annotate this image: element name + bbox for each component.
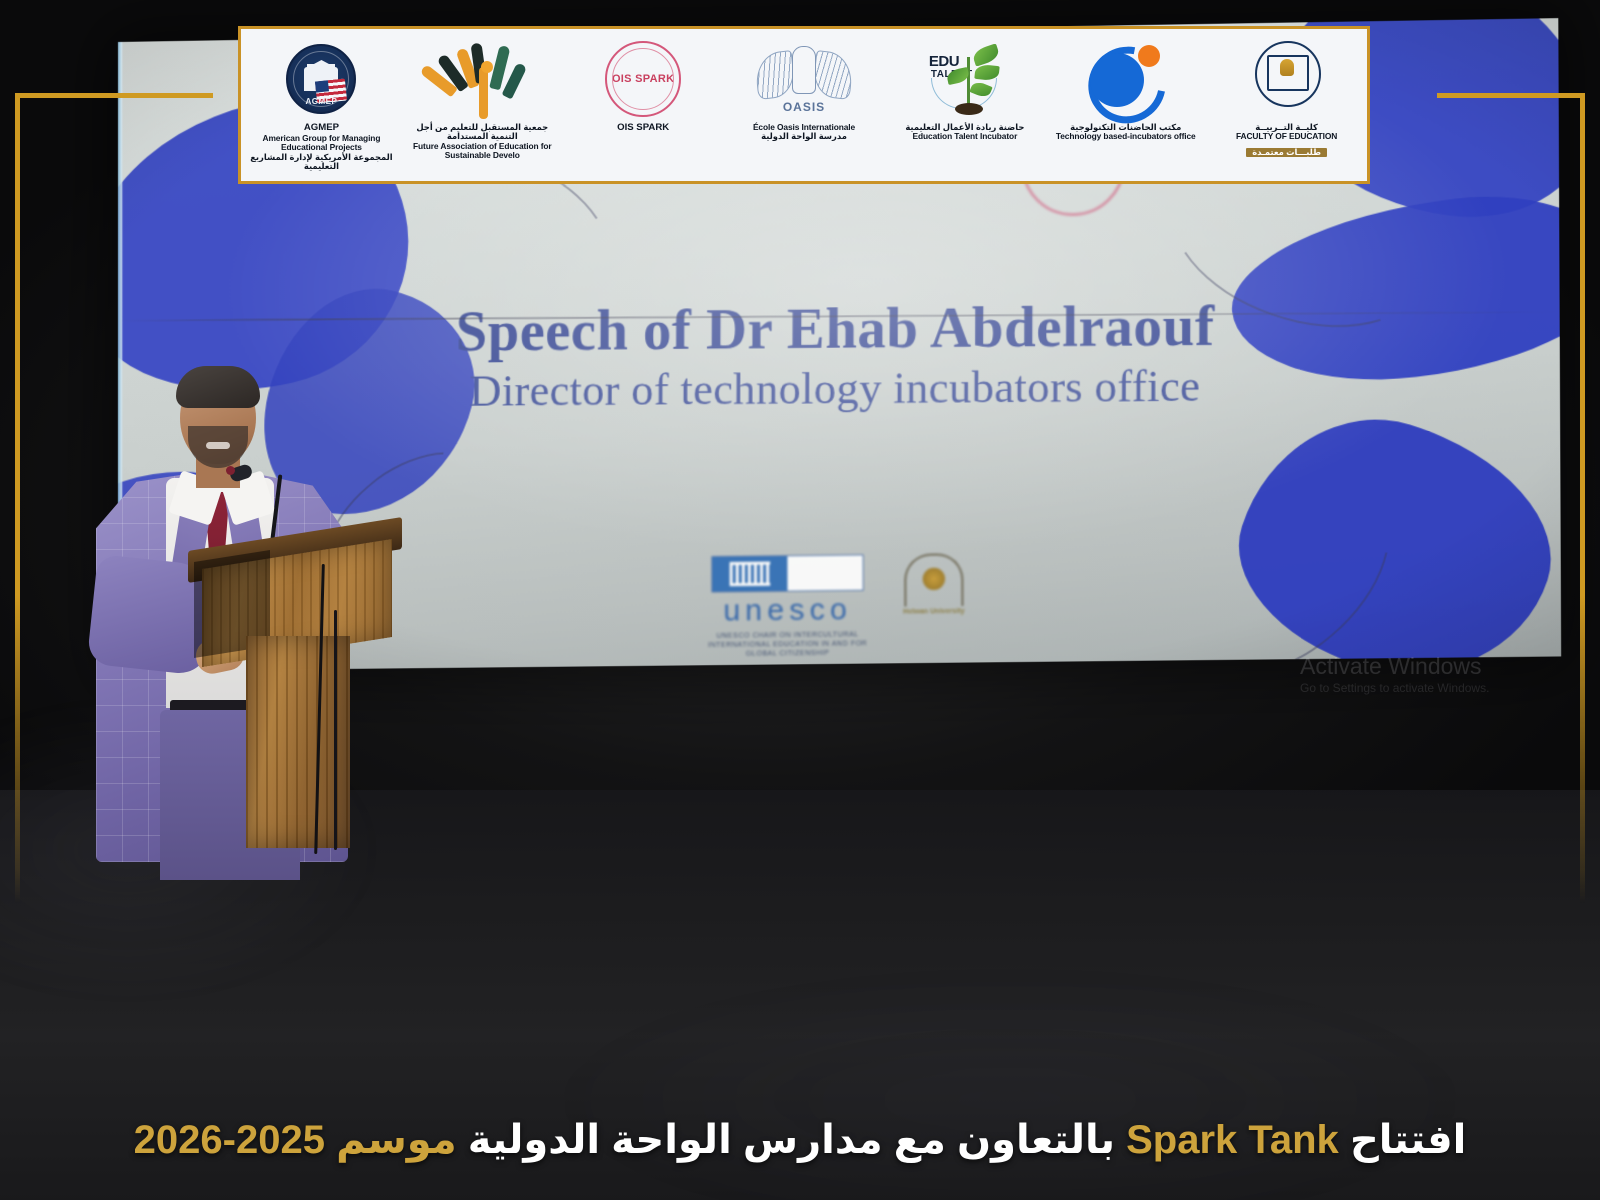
agmep-caption: AGMEP American Group for Managing Educat… [243,123,400,171]
tbi-name-en: Technology based-incubators office [1056,132,1196,141]
logo-item-faculty-of-education: كليــة التــربيــة FACULTY OF EDUCATION … [1206,29,1367,181]
gold-frame-top-left [15,93,213,98]
faculty-of-education-caption: كليــة التــربيــة FACULTY OF EDUCATION … [1236,123,1337,160]
tbi-caption: مكتب الحاضنات التكنولوجية Technology bas… [1056,123,1196,142]
edu-talent-plant-icon: EDU TALENT [925,37,1005,121]
oasis-name-ar: مدرسة الواحة الدولية [753,132,855,141]
caption-word-opening: افتتاح [1350,1118,1466,1162]
oasis-caption: École Oasis Internationale مدرسة الواحة … [753,123,855,142]
logo-item-oasis: OASIS École Oasis Internationale مدرسة ا… [724,29,885,181]
faculty-accreditation-badge: طلبـــات معتمـدة [1246,148,1327,157]
logo-item-faesd: جمعية المستقبل للتعليم من أجل التنمية ال… [402,29,563,181]
logo-item-agmep: AGMEP AGMEP American Group for Managing … [241,29,402,181]
tbi-circle-icon [1088,37,1164,121]
partner-logo-bar: AGMEP AGMEP American Group for Managing … [238,26,1370,184]
caption-season-years: 2026-2025 [134,1116,325,1164]
stage-light-glow-center [560,980,1460,1200]
caption-brand-spark-tank: Spark Tank [1126,1116,1339,1164]
ois-spark-name-en: OIS SPARK [617,123,669,134]
edu-talent-name-en: Education Talent Incubator [905,132,1024,141]
gold-frame-right [1580,93,1585,903]
ois-spark-wordmark: OIS SPARK [612,73,674,85]
caption-season-label: موسم [336,1118,457,1162]
caption-collaboration-text: بالتعاون مع مدارس الواحة الدولية [468,1118,1115,1162]
edu-talent-mark-top: EDU [929,53,959,70]
speaker-mouth [206,442,230,449]
speaker-hair [176,366,260,408]
gold-frame-top-right [1437,93,1585,98]
gold-frame-left [15,93,20,903]
agmep-seal-icon: AGMEP [286,37,356,121]
event-photo-stage: OASIS GROUPE SCOLAIRE OASIS Speech of Dr… [0,0,1600,1200]
faculty-of-education-icon [1250,37,1324,121]
logo-item-tbi: مكتب الحاضنات التكنولوجية Technology bas… [1045,29,1206,181]
faesd-name-ar: جمعية المستقبل للتعليم من أجل التنمية ال… [404,123,561,142]
ois-spark-caption: OIS SPARK [617,123,669,134]
edu-talent-caption: حاضنة ريادة الأعمال التعليمية Education … [905,123,1024,142]
event-caption: افتتاح Spark Tank بالتعاون مع مدارس الوا… [0,1116,1600,1164]
microphone-tip [226,466,235,475]
faesd-name-en: Future Association of Education for Sust… [404,142,561,161]
faesd-caption: جمعية المستقبل للتعليم من أجل التنمية ال… [404,123,561,161]
oasis-wings-icon: OASIS [756,37,852,121]
logo-item-ois-spark: OIS SPARK OIS SPARK [563,29,724,181]
agmep-seal-word: AGMEP [288,97,354,106]
faculty-mark-en: FACULTY OF EDUCATION [1236,132,1337,141]
podium-cable-secondary [334,610,337,850]
wooden-podium [222,540,392,840]
agmep-name-ar: المجموعة الأمريكية لإدارة المشاريع التعل… [243,153,400,172]
logo-item-edu-talent: EDU TALENT حاضنة ريادة الأعمال التعليمية… [884,29,1045,181]
ois-spark-circle-icon: OIS SPARK [605,37,681,121]
agmep-name-en: American Group for Managing Educational … [243,134,400,153]
oasis-wordmark: OASIS [756,100,852,114]
faesd-tree-icon [445,37,519,121]
